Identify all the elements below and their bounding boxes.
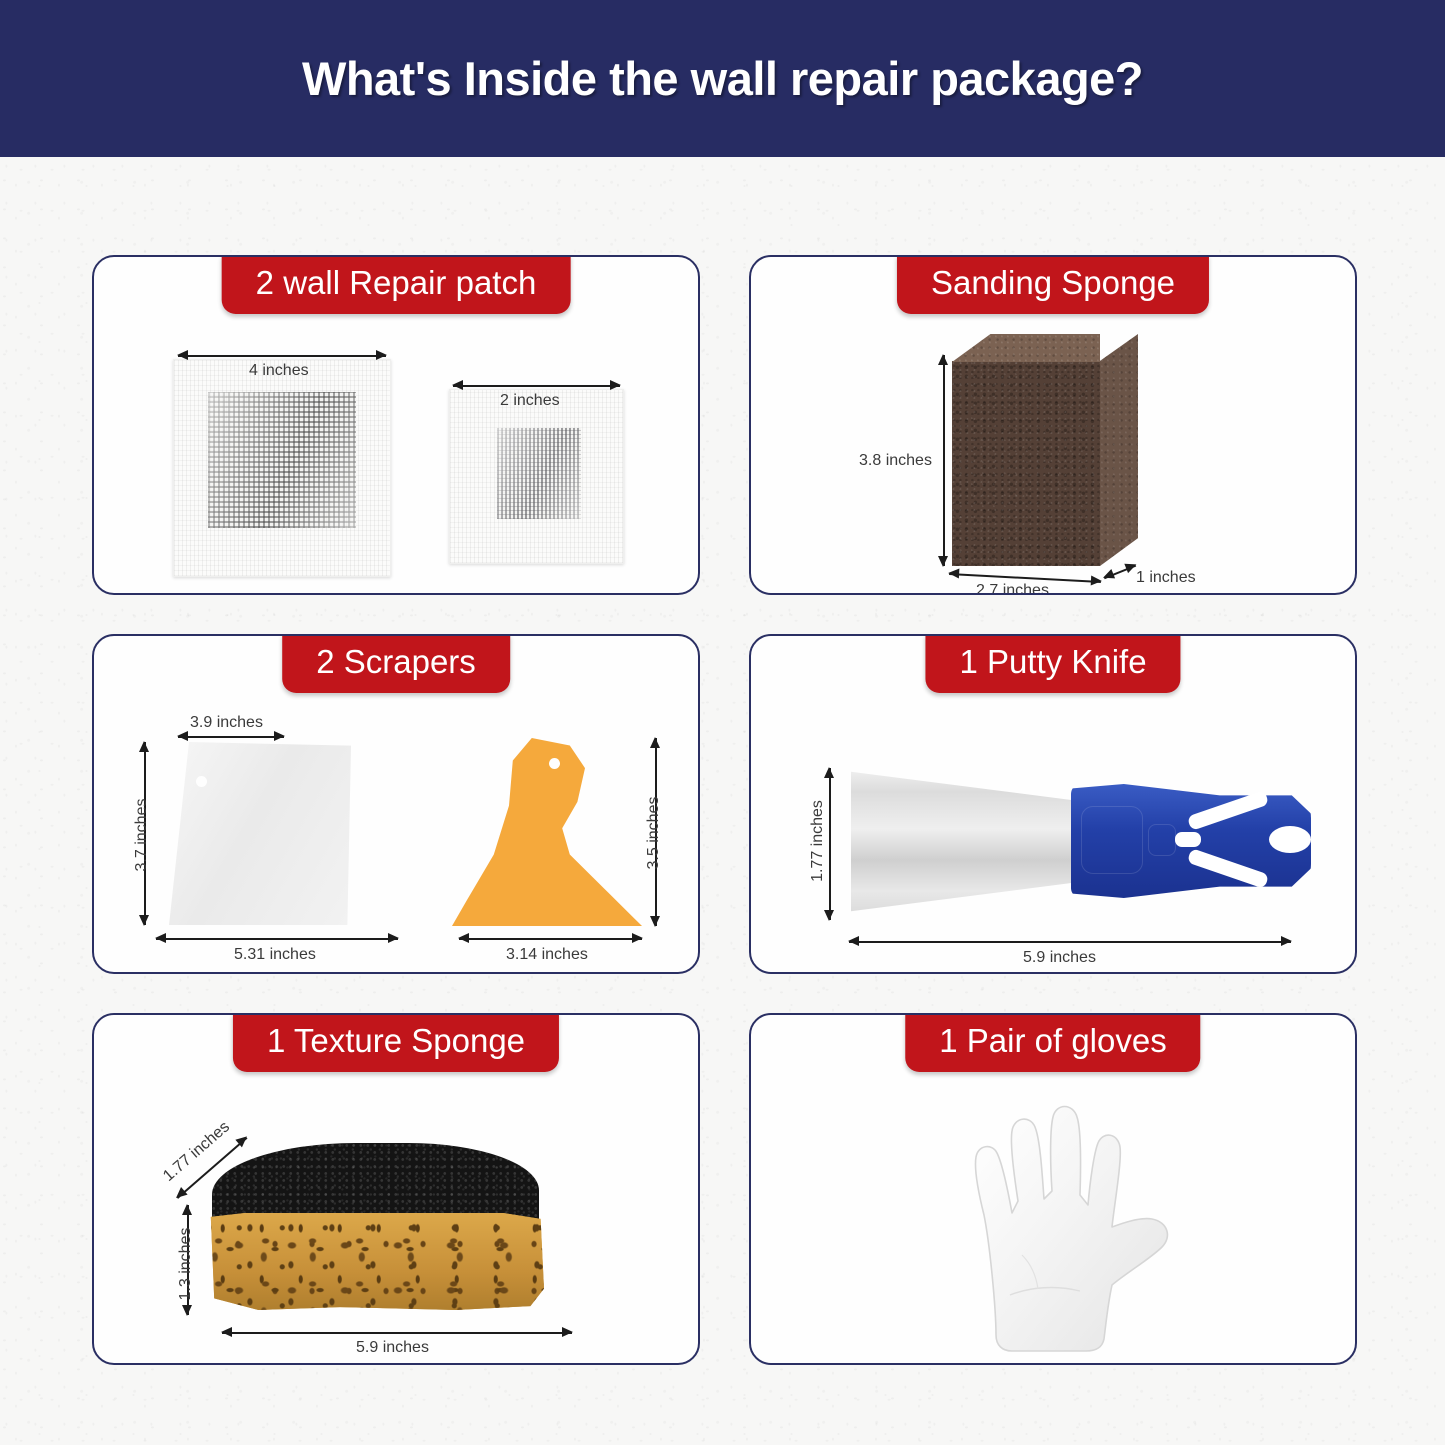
card-title-badge: 2 Scrapers <box>282 634 510 693</box>
orange-squeegee <box>452 738 642 926</box>
card-sanding-sponge: Sanding Sponge 3.8 inches 2.7 inches 1 i… <box>749 255 1357 595</box>
card-wall-repair-patch: 2 wall Repair patch 4 inches 2 inches <box>92 255 700 595</box>
card-title-badge: 1 Pair of gloves <box>905 1013 1200 1072</box>
squeegee-bottom-width-arrow <box>459 938 642 940</box>
white-scraper <box>169 742 351 925</box>
sponge-front-face <box>952 361 1100 566</box>
large-patch-width-arrow <box>178 355 386 357</box>
sponge-height-label: 3.8 inches <box>859 452 932 470</box>
sponge-depth-arrow <box>1104 565 1136 579</box>
blade-width-arrow <box>829 768 831 920</box>
scraper-bottom-width-label: 5.31 inches <box>234 946 316 964</box>
texture-sponge-length-label: 5.9 inches <box>356 1339 429 1357</box>
handle-grip-slot-mid <box>1175 832 1201 847</box>
handle-ferrule-shading <box>1081 806 1143 874</box>
scraper-top-width-arrow <box>178 736 284 738</box>
small-patch-width-arrow <box>453 385 620 387</box>
sponge-top-face <box>952 334 1100 362</box>
page-header: What's Inside the wall repair package? <box>0 0 1445 157</box>
handle-thumb-detent <box>1148 824 1176 856</box>
large-patch-mesh <box>208 392 356 528</box>
sponge-depth-label: 1 inches <box>1136 569 1196 587</box>
small-patch-mesh <box>497 428 581 519</box>
knife-length-arrow <box>849 941 1291 943</box>
scraper-left-height-label: 3.7 inches <box>133 781 151 889</box>
infographic-page: What's Inside the wall repair package? 2… <box>0 0 1445 1445</box>
sponge-height-arrow <box>943 355 945 566</box>
large-repair-patch <box>173 359 391 577</box>
squeegee-height-label: 3.5 inches <box>645 779 663 887</box>
texture-sponge-body <box>204 1213 544 1310</box>
orange-squeegee-hole <box>549 758 560 769</box>
texture-sponge-height-label: 1.3 inches <box>177 1214 195 1314</box>
knife-length-label: 5.9 inches <box>1023 949 1096 967</box>
small-repair-patch <box>449 389 624 564</box>
page-title: What's Inside the wall repair package? <box>302 51 1143 106</box>
blade-width-label: 1.77 inches <box>809 781 827 901</box>
scraper-top-width-label: 3.9 inches <box>190 714 263 732</box>
squeegee-bottom-width-label: 3.14 inches <box>506 946 588 964</box>
scraper-bottom-width-arrow <box>156 938 398 940</box>
white-scraper-hole <box>196 776 207 787</box>
card-texture-sponge: 1 Texture Sponge 1.77 inches 1.3 inches … <box>92 1013 700 1365</box>
card-gloves: 1 Pair of gloves <box>749 1013 1357 1365</box>
card-title-badge: 2 wall Repair patch <box>222 255 571 314</box>
card-title-badge: 1 Putty Knife <box>925 634 1180 693</box>
texture-sponge-length-arrow <box>222 1332 572 1334</box>
card-title-badge: 1 Texture Sponge <box>233 1013 559 1072</box>
sponge-side-face <box>1100 334 1138 566</box>
small-patch-width-label: 2 inches <box>500 392 560 410</box>
handle-hanging-hole <box>1269 826 1311 853</box>
product-card-grid: 2 wall Repair patch 4 inches 2 inches Sa… <box>92 255 1357 1365</box>
large-patch-width-label: 4 inches <box>249 362 309 380</box>
putty-knife-blade <box>851 764 1081 919</box>
card-putty-knife: 1 Putty Knife 1.77 inches 5. <box>749 634 1357 974</box>
sponge-width-label: 2.7 inches <box>976 582 1049 595</box>
card-title-badge: Sanding Sponge <box>897 255 1209 314</box>
card-scrapers: 2 Scrapers 3.9 inches 3.7 inches 5.31 in… <box>92 634 700 974</box>
disposable-glove-icon <box>926 1095 1196 1357</box>
